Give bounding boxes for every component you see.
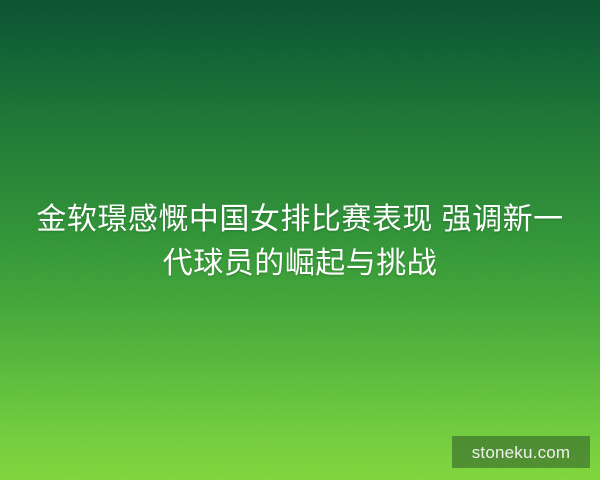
banner-headline: 金软璟感慨中国女排比赛表现 强调新一 代球员的崛起与挑战 <box>0 198 600 286</box>
watermark-badge: stoneku.com <box>452 436 590 468</box>
promo-banner: 金软璟感慨中国女排比赛表现 强调新一 代球员的崛起与挑战 stoneku.com <box>0 0 600 480</box>
watermark-label: stoneku.com <box>472 444 571 461</box>
